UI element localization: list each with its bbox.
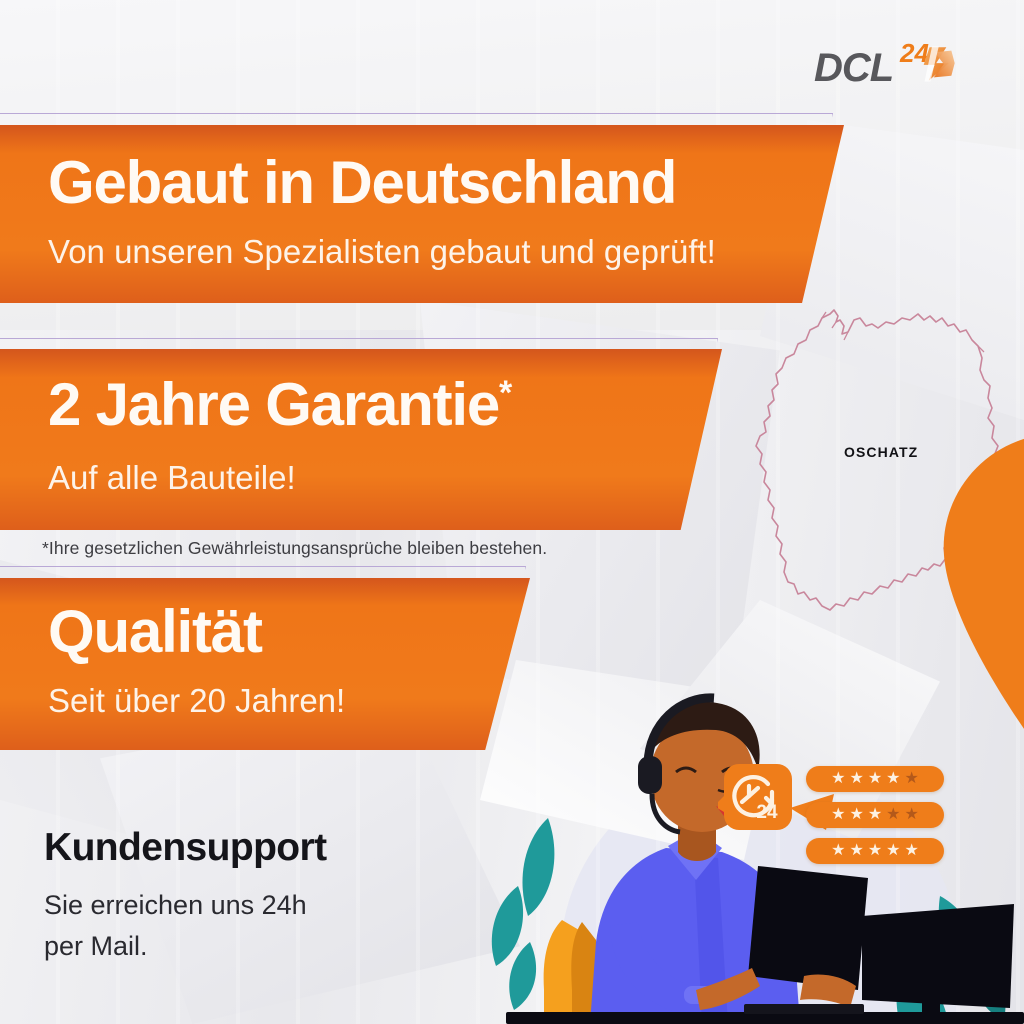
keyboard [744, 1004, 864, 1014]
banner-2-jahre-garantie: 2 Jahre Garantie* Auf alle Bauteile! [0, 349, 722, 530]
banner-1-heading: Gebaut in Deutschland [48, 153, 676, 213]
star-icon: ★ [868, 807, 882, 823]
rating-row-1: ★★★★★ [806, 766, 944, 792]
legal-footnote: *Ihre gesetzlichen Gewährleistungsansprü… [42, 538, 547, 559]
star-icon: ★ [849, 807, 863, 823]
star-icon: ★ [905, 843, 919, 859]
rating-row-2: ★★★★★ [806, 802, 944, 828]
star-icon: ★ [868, 771, 882, 787]
tablet-device [748, 866, 868, 990]
banner-gebaut-in-deutschland: Gebaut in Deutschland Von unseren Spezia… [0, 125, 844, 303]
support-line-2: per Mail. [44, 927, 327, 966]
star-icon-empty: ★ [886, 807, 900, 823]
monitor-screen [862, 904, 1014, 1008]
star-icon: ★ [831, 843, 845, 859]
logo-arrow-icon [922, 22, 1000, 106]
star-icon: ★ [886, 771, 900, 787]
banner-2-heading: 2 Jahre Garantie [48, 371, 499, 438]
star-icon: ★ [849, 771, 863, 787]
support-line-1: Sie erreichen uns 24h [44, 886, 327, 925]
banner-qualitaet: Qualität Seit über 20 Jahren! [0, 578, 530, 750]
banner-2-heading-wrap: 2 Jahre Garantie* [48, 375, 511, 435]
star-icon: ★ [868, 843, 882, 859]
star-ratings-group: ★★★★★ ★★★★★ ★★★★★ [806, 766, 944, 874]
banner-2-subheading: Auf alle Bauteile! [48, 459, 296, 497]
brand-logo[interactable]: DCL 24 [814, 22, 1000, 106]
badge-tail [718, 796, 724, 812]
promo-poster: DCL 24 Gebaut in Deutschland Von unseren… [0, 0, 1024, 1024]
rating-row-3: ★★★★★ [806, 838, 944, 864]
kundensupport-block: Kundensupport Sie erreichen uns 24h per … [44, 826, 327, 966]
star-icon-empty: ★ [905, 807, 919, 823]
logo-wordmark: DCL [814, 46, 893, 91]
banner-1-subheading: Von unseren Spezialisten gebaut und gepr… [48, 233, 716, 271]
headset-earcup [638, 756, 662, 794]
badge-24-label: 24 [756, 802, 778, 823]
star-icon: ★ [886, 843, 900, 859]
badge-24h-support: 24 [718, 762, 796, 834]
banner-3-subheading: Seit über 20 Jahren! [48, 682, 345, 720]
star-icon: ★ [831, 807, 845, 823]
germany-map: OSCHATZ [752, 306, 1018, 646]
city-label-oschatz: OSCHATZ [844, 444, 918, 460]
banner-3-heading: Qualität [48, 602, 262, 662]
support-heading: Kundensupport [44, 826, 327, 870]
banner-2-asterisk: * [499, 374, 511, 412]
star-icon: ★ [831, 771, 845, 787]
star-icon-empty: ★ [905, 771, 919, 787]
star-icon: ★ [849, 843, 863, 859]
